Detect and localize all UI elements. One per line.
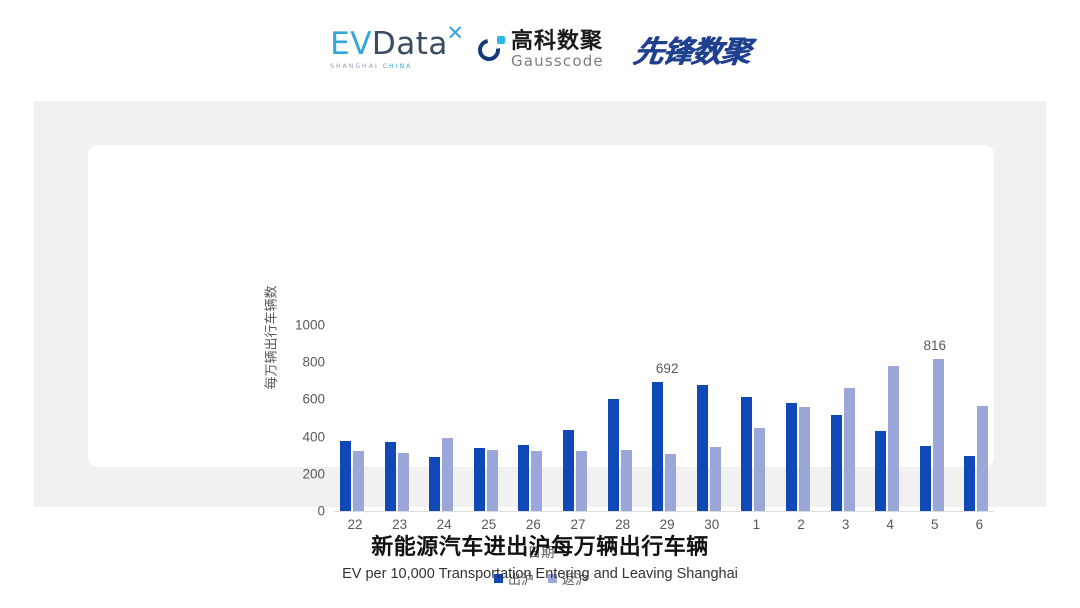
bar-chart: 每万辆出行车辆数 10008006004002000 692816 日期 出沪返… (88, 145, 994, 467)
evdata-tagline-cn: CHINA (383, 63, 413, 70)
y-axis-tick: 0 (285, 504, 325, 519)
bar (741, 397, 752, 511)
bar (429, 457, 440, 511)
bar (474, 448, 485, 511)
bar (608, 399, 619, 511)
y-axis-tick: 600 (285, 392, 325, 407)
bar-group (691, 325, 733, 511)
bar (563, 430, 574, 511)
evdata-data-text: Data (372, 29, 448, 60)
y-axis-ticks: 10008006004002000 (285, 145, 325, 467)
bar (487, 450, 498, 511)
gausscode-en-text: Gausscode (511, 54, 604, 69)
bar (621, 450, 632, 511)
bar-group (780, 325, 822, 511)
gausscode-wordmark: 高科数聚 Gausscode (511, 30, 604, 69)
bar-value-label: 816 (914, 338, 956, 353)
bar-group: 816 (914, 325, 956, 511)
bar (875, 431, 886, 511)
bar-group (379, 325, 421, 511)
bar (665, 454, 676, 511)
bar (442, 438, 453, 511)
evdata-ev-text: EV (330, 29, 372, 60)
bar (888, 366, 899, 511)
bar (710, 447, 721, 511)
bar (531, 451, 542, 511)
bar (518, 445, 529, 511)
bar (754, 428, 765, 511)
bar (353, 451, 364, 511)
bar (786, 403, 797, 511)
y-axis-tick: 800 (285, 355, 325, 370)
caption-title-cn: 新能源汽车进出沪每万辆出行车辆 (0, 529, 1080, 561)
bar-group (825, 325, 867, 511)
bar (697, 385, 708, 511)
bar (398, 453, 409, 511)
bar (831, 415, 842, 511)
bar-value-label: 692 (646, 361, 688, 376)
bar (340, 441, 351, 511)
cross-icon: ✕ (446, 23, 464, 44)
bar (385, 442, 396, 511)
y-axis-tick: 200 (285, 466, 325, 481)
bar (933, 359, 944, 511)
bar (844, 388, 855, 511)
gausscode-mark-icon (478, 36, 505, 63)
bar (977, 406, 988, 511)
bar-group: 692 (646, 325, 688, 511)
bar-group (468, 325, 510, 511)
y-axis-tick: 400 (285, 429, 325, 444)
bar-group (423, 325, 465, 511)
xianfeng-logo: 先锋数聚 (631, 27, 753, 71)
plot-area: 692816 (334, 325, 1002, 511)
bar (799, 407, 810, 511)
chart-card: 每万辆出行车辆数 10008006004002000 692816 日期 出沪返… (88, 145, 994, 467)
evdata-tagline: SHANGHAI CHINA (330, 63, 412, 70)
bar-group (602, 325, 644, 511)
y-axis-tick: 1000 (285, 318, 325, 333)
bar-group (557, 325, 599, 511)
evdata-logo: EVData ✕ SHANGHAI CHINA (330, 29, 448, 70)
bar-group (334, 325, 376, 511)
bar-group (735, 325, 777, 511)
gausscode-cn-text: 高科数聚 (511, 30, 604, 52)
bar (576, 451, 587, 511)
bar (964, 456, 975, 511)
x-axis-line (334, 511, 994, 512)
gausscode-logo: 高科数聚 Gausscode (478, 30, 604, 69)
bar (652, 382, 663, 511)
bar-group (958, 325, 1000, 511)
bar (920, 446, 931, 511)
evdata-wordmark: EVData (330, 29, 448, 60)
logo-bar: EVData ✕ SHANGHAI CHINA 高科数聚 Gausscode 先… (0, 18, 1080, 80)
bar-group (869, 325, 911, 511)
bar-group (512, 325, 554, 511)
caption-title-en: EV per 10,000 Transportation Entering an… (0, 566, 1080, 582)
evdata-tagline-en: SHANGHAI (330, 63, 379, 70)
y-axis-label: 每万辆出行车辆数 (261, 268, 280, 408)
